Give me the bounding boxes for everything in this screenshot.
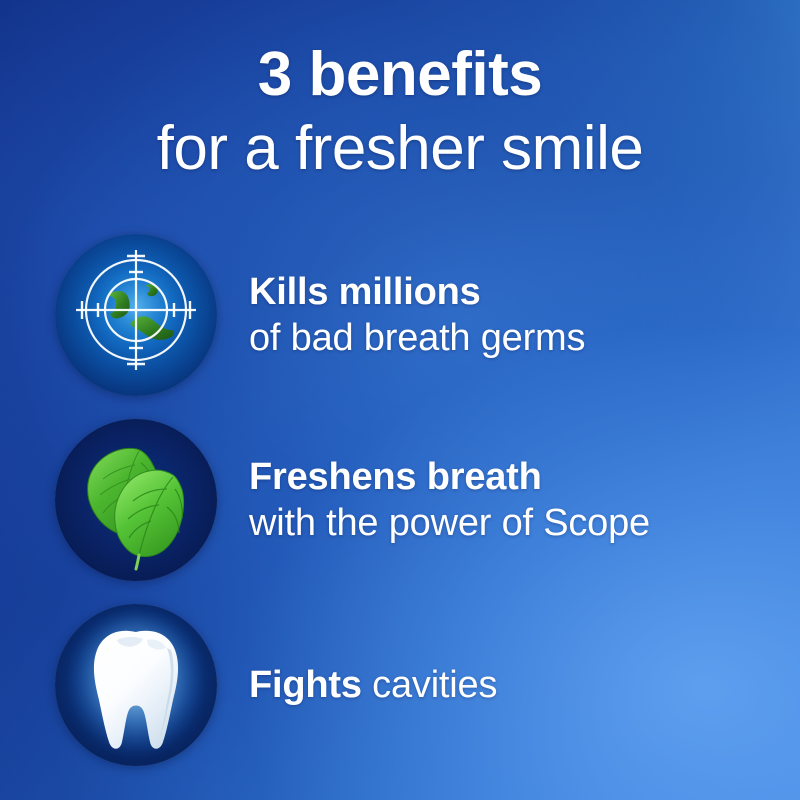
benefit-subtext-3: cavities <box>362 664 497 706</box>
benefit-badge-1 <box>55 234 217 396</box>
benefit-text-1: Kills millions of bad breath germs <box>249 272 585 359</box>
tooth-graphic <box>55 604 217 766</box>
benefit-headline-2: Freshens breath <box>249 457 650 497</box>
benefit-subtext-2: with the power of Scope <box>249 503 650 543</box>
benefit-row-freshens-breath: Freshens breath with the power of Scope <box>0 415 800 585</box>
headline-line-1: 3 benefits <box>0 44 800 106</box>
mint-leaf-icon <box>55 419 217 581</box>
mint-leaves-graphic <box>55 419 217 581</box>
benefit-subtext-1: of bad breath germs <box>249 318 585 358</box>
benefits-infographic: 3 benefits for a fresher smile <box>0 0 800 800</box>
headline-line-2: for a fresher smile <box>0 118 800 180</box>
germ-target-icon <box>55 234 217 396</box>
benefit-badge-3 <box>55 604 217 766</box>
benefit-row-fights-cavities: Fights cavities <box>0 600 800 770</box>
benefit-badge-2 <box>55 419 217 581</box>
benefit-text-3: Fights cavities <box>249 665 497 705</box>
benefit-row-kills-germs: Kills millions of bad breath germs <box>0 230 800 400</box>
page-title: 3 benefits for a fresher smile <box>0 44 800 180</box>
benefit-headline-1: Kills millions <box>249 272 585 312</box>
tooth-icon <box>55 604 217 766</box>
benefit-text-2: Freshens breath with the power of Scope <box>249 457 650 544</box>
benefit-headline-3: Fights <box>249 664 362 706</box>
crosshair-graphic <box>55 234 217 396</box>
